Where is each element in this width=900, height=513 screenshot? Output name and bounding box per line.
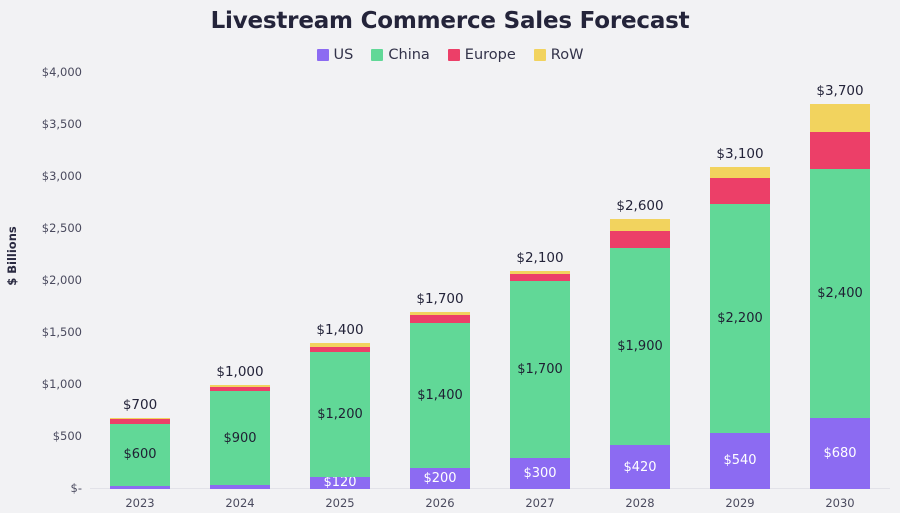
bar-segment-us[interactable]: $680 xyxy=(810,418,870,489)
bar-segment-label: $680 xyxy=(823,447,856,460)
bar-segment-europe[interactable] xyxy=(210,387,270,391)
bar-segment-row[interactable] xyxy=(210,385,270,387)
bar-segment-label: $540 xyxy=(723,454,756,467)
y-axis-tick-label: $3,000 xyxy=(42,169,82,183)
bar-total-label: $1,400 xyxy=(316,322,363,338)
bar-segment-us[interactable]: $120 xyxy=(310,477,370,489)
bar-group[interactable]: $900$1,000 xyxy=(210,385,270,489)
bar-group[interactable]: $200$1,400$1,700 xyxy=(410,312,470,489)
legend-item-us[interactable]: US xyxy=(317,48,354,63)
legend-label: US xyxy=(334,48,354,63)
bar-segment-us[interactable] xyxy=(110,486,170,489)
bar-segment-label: $1,200 xyxy=(317,408,363,421)
chart-title: Livestream Commerce Sales Forecast xyxy=(0,8,900,34)
bar-segment-label: $200 xyxy=(423,472,456,485)
bar-segment-europe[interactable] xyxy=(110,419,170,423)
bar-segment-europe[interactable] xyxy=(310,347,370,352)
bar-segment-label: $1,400 xyxy=(417,389,463,402)
legend-item-row[interactable]: RoW xyxy=(534,48,584,63)
bar-segment-row[interactable] xyxy=(610,219,670,231)
x-axis-tick-label: 2030 xyxy=(825,496,854,510)
bar-segment-row[interactable] xyxy=(510,271,570,274)
bar-segment-china[interactable]: $1,700 xyxy=(510,281,570,458)
bar-segment-row[interactable] xyxy=(710,167,770,178)
chart-legend: USChinaEuropeRoW xyxy=(0,48,900,63)
bar-segment-europe[interactable] xyxy=(510,274,570,281)
bar-segment-europe[interactable] xyxy=(710,178,770,204)
x-axis-tick-label: 2025 xyxy=(325,496,354,510)
x-axis-tick-label: 2029 xyxy=(725,496,754,510)
bar-segment-europe[interactable] xyxy=(610,231,670,248)
bar-group[interactable]: $120$1,200$1,400 xyxy=(310,343,370,489)
bar-segment-row[interactable] xyxy=(810,104,870,132)
bar-segment-china[interactable]: $1,200 xyxy=(310,352,370,477)
legend-label: Europe xyxy=(465,48,516,63)
bar-segment-us[interactable]: $420 xyxy=(610,445,670,489)
legend-item-europe[interactable]: Europe xyxy=(448,48,516,63)
bar-total-label: $3,700 xyxy=(816,83,863,99)
bar-segment-label: $120 xyxy=(323,476,356,489)
bar-segment-us[interactable] xyxy=(210,485,270,489)
legend-swatch-icon xyxy=(448,49,460,61)
bar-segment-china[interactable]: $600 xyxy=(110,424,170,486)
bar-segment-china[interactable]: $1,400 xyxy=(410,323,470,469)
x-axis-tick-label: 2024 xyxy=(225,496,254,510)
bar-segment-us[interactable]: $540 xyxy=(710,433,770,489)
bar-total-label: $1,700 xyxy=(416,291,463,307)
bar-total-label: $2,600 xyxy=(616,198,663,214)
bar-group[interactable]: $680$2,400$3,700 xyxy=(810,104,870,489)
bar-segment-china[interactable]: $2,200 xyxy=(710,204,770,433)
x-axis-tick-label: 2027 xyxy=(525,496,554,510)
bar-group[interactable]: $420$1,900$2,600 xyxy=(610,219,670,489)
legend-swatch-icon xyxy=(317,49,329,61)
legend-swatch-icon xyxy=(534,49,546,61)
bar-segment-label: $900 xyxy=(223,432,256,445)
bar-segment-label: $420 xyxy=(623,461,656,474)
y-axis-tick-label: $1,000 xyxy=(42,377,82,391)
chart-root: Livestream Commerce Sales Forecast USChi… xyxy=(0,0,900,513)
bar-group[interactable]: $600$700 xyxy=(110,418,170,489)
y-axis-tick-label: $2,000 xyxy=(42,273,82,287)
bar-segment-europe[interactable] xyxy=(410,315,470,322)
bar-total-label: $1,000 xyxy=(216,364,263,380)
bar-segment-label: $2,400 xyxy=(817,287,863,300)
bar-group[interactable]: $300$1,700$2,100 xyxy=(510,271,570,489)
bar-group[interactable]: $540$2,200$3,100 xyxy=(710,167,770,489)
x-axis-tick-label: 2023 xyxy=(125,496,154,510)
legend-swatch-icon xyxy=(371,49,383,61)
y-axis-tick-label: $3,500 xyxy=(42,117,82,131)
bar-segment-china[interactable]: $2,400 xyxy=(810,169,870,419)
legend-label: China xyxy=(388,48,429,63)
bar-segment-row[interactable] xyxy=(410,312,470,315)
legend-item-china[interactable]: China xyxy=(371,48,429,63)
bar-segment-row[interactable] xyxy=(310,343,370,346)
y-axis-tick-label: $4,000 xyxy=(42,65,82,79)
x-axis-tick-label: 2028 xyxy=(625,496,654,510)
bar-segment-europe[interactable] xyxy=(810,132,870,168)
bar-total-label: $3,100 xyxy=(716,146,763,162)
bar-segment-row[interactable] xyxy=(110,418,170,419)
y-axis-tick-label: $500 xyxy=(53,429,82,443)
bar-total-label: $700 xyxy=(123,397,157,413)
legend-label: RoW xyxy=(551,48,584,63)
x-axis-tick-label: 2026 xyxy=(425,496,454,510)
bar-segment-label: $600 xyxy=(123,448,156,461)
bar-segment-china[interactable]: $900 xyxy=(210,391,270,485)
bar-segment-label: $2,200 xyxy=(717,312,763,325)
bar-segment-china[interactable]: $1,900 xyxy=(610,248,670,446)
bar-segment-label: $300 xyxy=(523,467,556,480)
y-axis-tick-label: $- xyxy=(71,481,82,495)
y-axis-tick-label: $2,500 xyxy=(42,221,82,235)
bar-segment-label: $1,700 xyxy=(517,363,563,376)
bar-total-label: $2,100 xyxy=(516,250,563,266)
bar-segment-us[interactable]: $300 xyxy=(510,458,570,489)
bar-segment-label: $1,900 xyxy=(617,340,663,353)
bar-segment-us[interactable]: $200 xyxy=(410,468,470,489)
y-axis-title: $ Billions xyxy=(5,226,19,285)
plot-area: $600$700$900$1,000$120$1,200$1,400$200$1… xyxy=(90,72,890,489)
y-axis-tick-label: $1,500 xyxy=(42,325,82,339)
